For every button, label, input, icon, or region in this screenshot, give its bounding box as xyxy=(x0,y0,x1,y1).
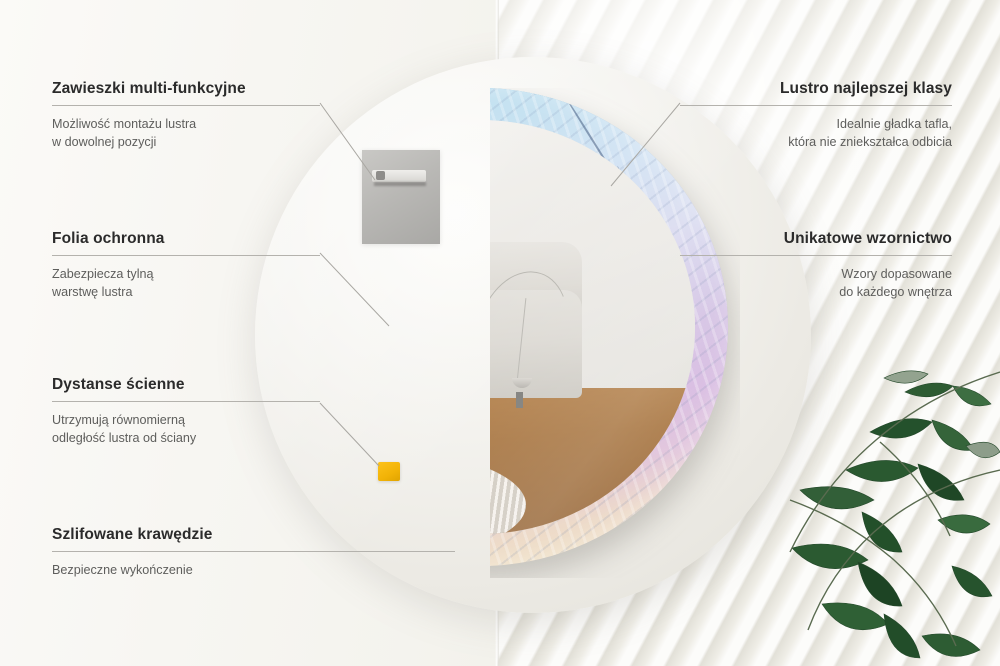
callout-title: Szlifowane krawędzie xyxy=(52,526,455,544)
callout-rule xyxy=(680,255,952,256)
callout-title: Zawieszki multi-funkcyjne xyxy=(52,80,320,98)
callout-rule xyxy=(52,255,320,256)
callout-title: Dystanse ścienne xyxy=(52,376,320,394)
callout-title: Lustro najlepszej klasy xyxy=(680,80,952,98)
callout-rule xyxy=(52,551,455,552)
callout-rule xyxy=(52,401,320,402)
callout-description: Bezpieczne wykończenie xyxy=(52,561,455,579)
callout-wall-spacers: Dystanse ścienne Utrzymują równomierną o… xyxy=(52,376,320,447)
callout-description: Możliwość montażu lustra w dowolnej pozy… xyxy=(52,115,320,151)
callout-description: Idealnie gładka tafla, która nie znieksz… xyxy=(680,115,952,151)
connector-hangers xyxy=(320,103,375,180)
infographic-stage: Zawieszki multi-funkcyjne Możliwość mont… xyxy=(0,0,1000,666)
connector-best-class-mirror xyxy=(611,103,680,186)
callout-protective-film: Folia ochronna Zabezpiecza tylną warstwę… xyxy=(52,230,320,301)
callout-description: Wzory dopasowane do każdego wnętrza xyxy=(680,265,952,301)
connector-protective-film xyxy=(320,253,389,326)
callout-rule xyxy=(52,105,320,106)
callout-description: Zabezpiecza tylną warstwę lustra xyxy=(52,265,320,301)
callout-polished-edges: Szlifowane krawędzie Bezpieczne wykończe… xyxy=(52,526,455,579)
callout-hangers: Zawieszki multi-funkcyjne Możliwość mont… xyxy=(52,80,320,151)
callout-unique-design: Unikatowe wzornictwo Wzory dopasowane do… xyxy=(680,230,952,301)
callout-title: Folia ochronna xyxy=(52,230,320,248)
callout-description: Utrzymują równomierną odległość lustra o… xyxy=(52,411,320,447)
callout-best-class-mirror: Lustro najlepszej klasy Idealnie gładka … xyxy=(680,80,952,151)
callout-rule xyxy=(680,105,952,106)
callout-title: Unikatowe wzornictwo xyxy=(680,230,952,248)
connector-wall-spacers xyxy=(320,403,379,466)
